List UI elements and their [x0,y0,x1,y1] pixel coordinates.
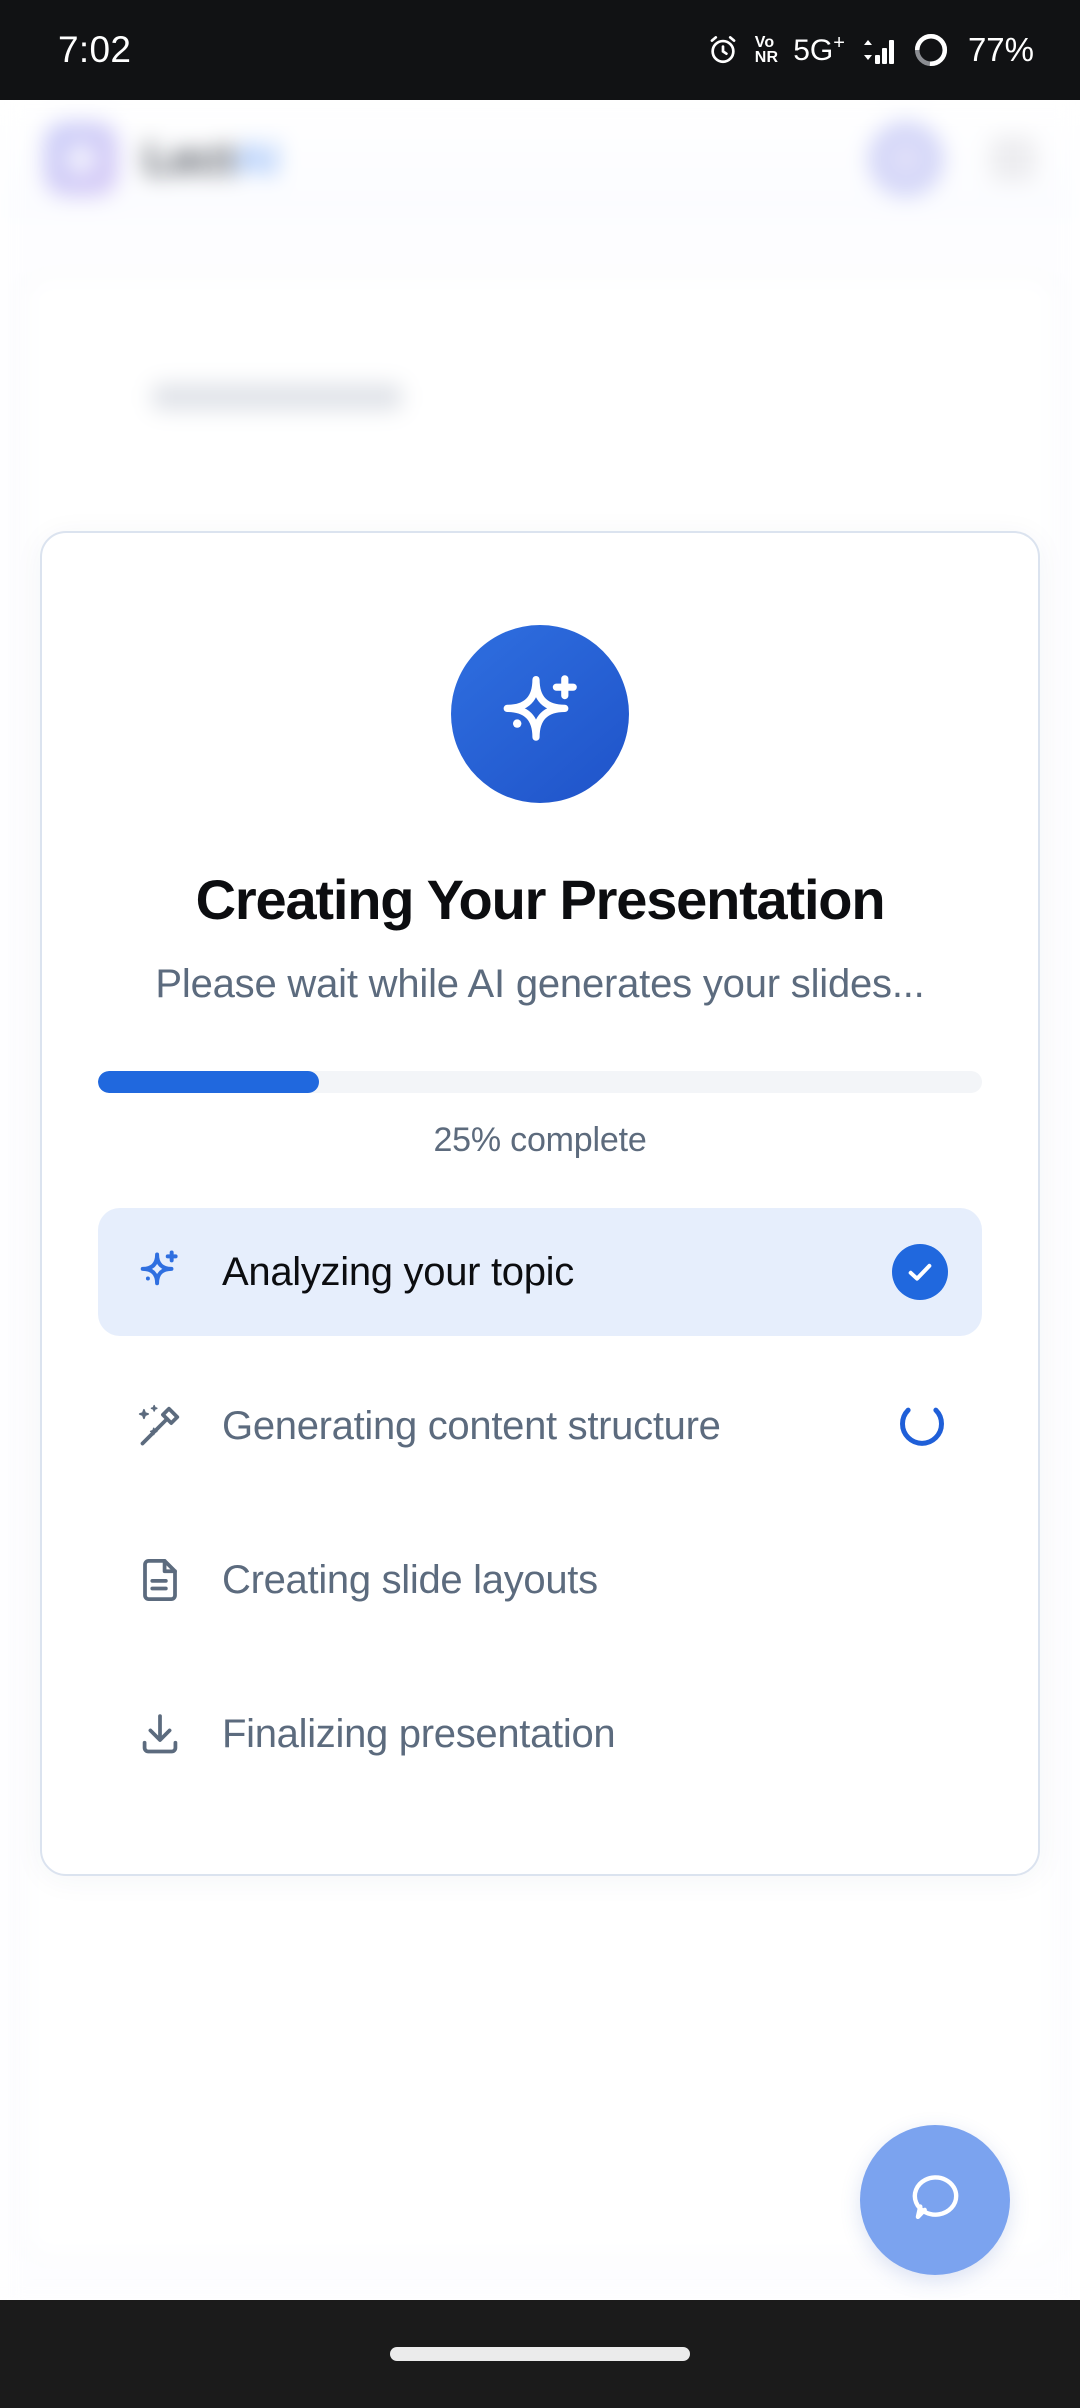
step-status [892,1244,948,1300]
chat-fab-button[interactable] [860,2125,1010,2275]
vonr-top: Vo [755,35,779,50]
signal-bars-icon [860,33,898,67]
step-generating-content-structure[interactable]: Generating content structure [98,1362,982,1490]
app-logo-text-primary: Lect [144,133,235,184]
step-label: Creating slide layouts [222,1558,598,1603]
step-label: Generating content structure [222,1404,721,1449]
vonr-bottom: NR [755,50,779,65]
step-status [896,1398,948,1455]
sparkle-icon [132,1244,188,1300]
menu-icon[interactable] [990,136,1036,182]
status-bar: 7:02 Vo NR 5G+ [0,0,1080,100]
status-time: 7:02 [58,29,131,71]
chat-bubble-icon [904,2167,966,2234]
android-nav-bar [0,2300,1080,2408]
download-icon [132,1706,188,1762]
avatar[interactable] [868,121,944,197]
page-title: Creating Your Presentation [98,867,982,932]
progress-bar-fill [98,1071,319,1093]
spinner-icon [896,1398,948,1455]
network-type-label: 5G+ [793,32,845,68]
phone-screen: LectAI 7:02 Vo [0,0,1080,2408]
app-logo-text: LectAI [144,133,279,185]
progress-label: 25% complete [98,1121,982,1160]
vonr-indicator: Vo NR [755,35,779,65]
app-header: LectAI [0,100,1080,218]
file-text-icon [132,1552,188,1608]
bg-text-line [152,384,402,410]
home-pill[interactable] [390,2347,690,2361]
creating-presentation-modal: Creating Your Presentation Please wait w… [40,531,1040,1876]
app-logo-icon [44,122,118,196]
step-label: Finalizing presentation [222,1712,615,1757]
step-finalizing-presentation[interactable]: Finalizing presentation [98,1670,982,1798]
progress-bar [98,1071,982,1093]
step-analyzing-your-topic[interactable]: Analyzing your topic [98,1208,982,1336]
modal-subtitle: Please wait while AI generates your slid… [98,962,982,1007]
magic-wand-icon [132,1398,188,1454]
ai-sparkle-icon [451,625,629,803]
battery-percent-label: 77% [968,31,1034,69]
battery-circle-icon [913,32,949,68]
steps-list: Analyzing your topic [98,1208,982,1798]
step-label: Analyzing your topic [222,1250,574,1295]
alarm-clock-icon [706,33,740,67]
app-logo-text-accent: AI [235,133,279,184]
step-creating-slide-layouts[interactable]: Creating slide layouts [98,1516,982,1644]
status-icons: Vo NR 5G+ 77% [706,31,1034,69]
check-icon [892,1244,948,1300]
